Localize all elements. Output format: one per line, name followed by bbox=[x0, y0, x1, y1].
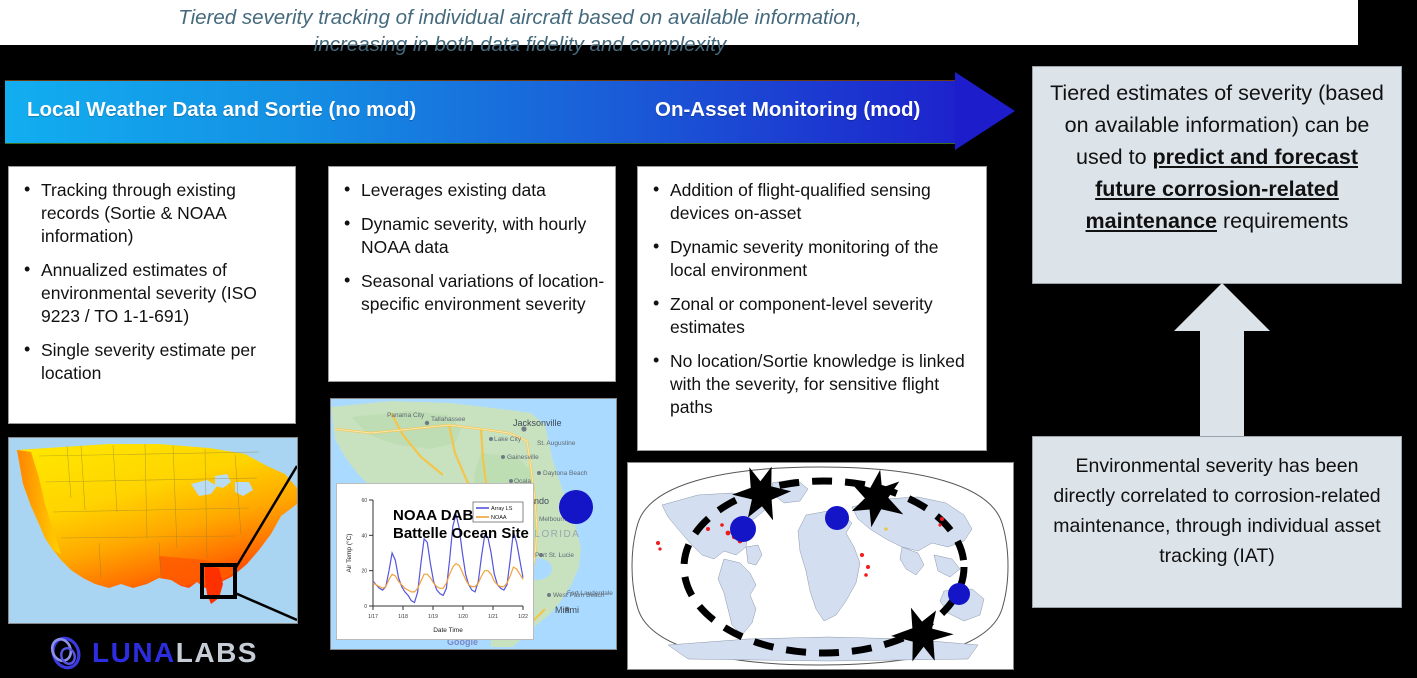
chart-xlabel: Date Time bbox=[433, 627, 463, 634]
panel-tiered-estimates: Tiered estimates of severity (based on a… bbox=[1032, 66, 1402, 284]
svg-text:1/22: 1/22 bbox=[518, 614, 528, 620]
list-item: Annualized estimates of environmental se… bbox=[21, 259, 285, 328]
map-label-miami: Miami bbox=[555, 605, 579, 615]
luna-rings-icon bbox=[46, 634, 86, 672]
us-severity-heatmap-image bbox=[8, 437, 298, 624]
page-title: Tiered severity tracking of individual a… bbox=[0, 4, 1040, 58]
noaa-chart-svg: 0204060 1/171/181/191/201/211/22 NOAA DA… bbox=[337, 484, 533, 639]
list-item: Zonal or component-level severity estima… bbox=[650, 293, 976, 339]
list-item: No location/Sortie knowledge is linked w… bbox=[650, 350, 976, 419]
chart-legend-label-1: NOAA bbox=[491, 515, 507, 521]
asset-marker bbox=[730, 516, 756, 542]
banner-label-local-weather: Local Weather Data and Sortie (no mod) bbox=[27, 98, 416, 122]
map-label-daytona: Daytona Beach bbox=[543, 470, 588, 477]
severity-progression-arrow: Local Weather Data and Sortie (no mod) O… bbox=[5, 72, 1015, 150]
bullet-card-hourly-noaa: Leverages existing data Dynamic severity… bbox=[328, 166, 616, 382]
asset-marker bbox=[948, 583, 970, 605]
list-item: Single severity estimate per location bbox=[21, 339, 285, 385]
svg-text:1/18: 1/18 bbox=[398, 614, 408, 620]
up-arrow-head bbox=[1174, 283, 1270, 331]
list-item: Dynamic severity monitoring of the local… bbox=[650, 236, 976, 282]
map-label-panama-city: Panama City bbox=[387, 412, 425, 419]
map-label-gainesville: Gainesville bbox=[507, 454, 539, 461]
map-label-lake-city: Lake City bbox=[494, 436, 522, 443]
page-title-line1: Tiered severity tracking of individual a… bbox=[0, 4, 1040, 31]
map-label-st-augustine: St. Augustine bbox=[537, 440, 576, 447]
svg-text:60: 60 bbox=[361, 498, 367, 504]
severity-dot bbox=[884, 527, 888, 531]
page-title-line2: increasing in both data fidelity and com… bbox=[0, 31, 1040, 58]
logo-text-labs: LABS bbox=[176, 637, 258, 668]
svg-text:1/17: 1/17 bbox=[368, 614, 378, 620]
svg-text:20: 20 bbox=[361, 569, 367, 575]
luna-labs-wordmark: LUNALABS bbox=[92, 637, 258, 669]
panel-top-post: requirements bbox=[1217, 209, 1348, 233]
svg-text:1/21: 1/21 bbox=[488, 614, 498, 620]
map-marker-dab bbox=[559, 490, 593, 524]
bullet-list-hourly-noaa: Leverages existing data Dynamic severity… bbox=[329, 167, 615, 328]
bullet-card-local-weather: Tracking through existing records (Sorti… bbox=[8, 166, 296, 424]
list-item: Leverages existing data bbox=[341, 179, 605, 202]
list-item: Dynamic severity, with hourly NOAA data bbox=[341, 213, 605, 259]
chart-title-line1: NOAA DAB bbox=[393, 507, 473, 524]
list-item: Seasonal variations of location-specific… bbox=[341, 270, 605, 316]
logo-text-luna: LUNA bbox=[92, 637, 176, 668]
bullet-card-on-asset: Addition of flight-qualified sensing dev… bbox=[637, 166, 987, 451]
bullet-list-on-asset: Addition of flight-qualified sensing dev… bbox=[638, 167, 986, 431]
svg-text:1/19: 1/19 bbox=[428, 614, 438, 620]
svg-text:40: 40 bbox=[361, 533, 367, 539]
up-arrow-stem bbox=[1200, 328, 1244, 438]
chart-ylabel: Air Temp (°C) bbox=[345, 534, 353, 573]
world-flight-path-map-image bbox=[627, 462, 1014, 670]
map-label-port-st-lucie: Port St. Lucie bbox=[535, 552, 574, 559]
panel-iat-correlation: Environmental severity has been directly… bbox=[1032, 436, 1402, 608]
noaa-dab-temperature-chart: 0204060 1/171/181/191/201/211/22 NOAA DA… bbox=[336, 483, 534, 640]
list-item: Tracking through existing records (Sorti… bbox=[21, 179, 285, 248]
bullet-list-local-weather: Tracking through existing records (Sorti… bbox=[9, 167, 295, 397]
banner-label-on-asset: On-Asset Monitoring (mod) bbox=[655, 98, 920, 122]
list-item: Addition of flight-qualified sensing dev… bbox=[650, 179, 976, 225]
luna-labs-logo: LUNALABS bbox=[46, 632, 261, 674]
svg-text:0: 0 bbox=[364, 604, 367, 610]
arrow-head-icon bbox=[955, 72, 1015, 150]
map-label-tallahassee: Tallahassee bbox=[431, 416, 466, 423]
svg-text:1/20: 1/20 bbox=[458, 614, 468, 620]
map-label-jacksonville: Jacksonville bbox=[513, 418, 562, 428]
up-arrow-icon bbox=[1174, 283, 1270, 438]
chart-title-line2: Battelle Ocean Site bbox=[393, 525, 529, 542]
us-heatmap-svg bbox=[9, 438, 297, 623]
asset-marker bbox=[825, 506, 849, 530]
world-map-svg bbox=[628, 463, 1013, 669]
map-label-fort-lauderdale: Fort Lauderdale bbox=[567, 590, 613, 597]
map-label-florida: FLORIDA bbox=[527, 529, 580, 540]
chart-legend-label-0: Array LS bbox=[491, 506, 513, 512]
